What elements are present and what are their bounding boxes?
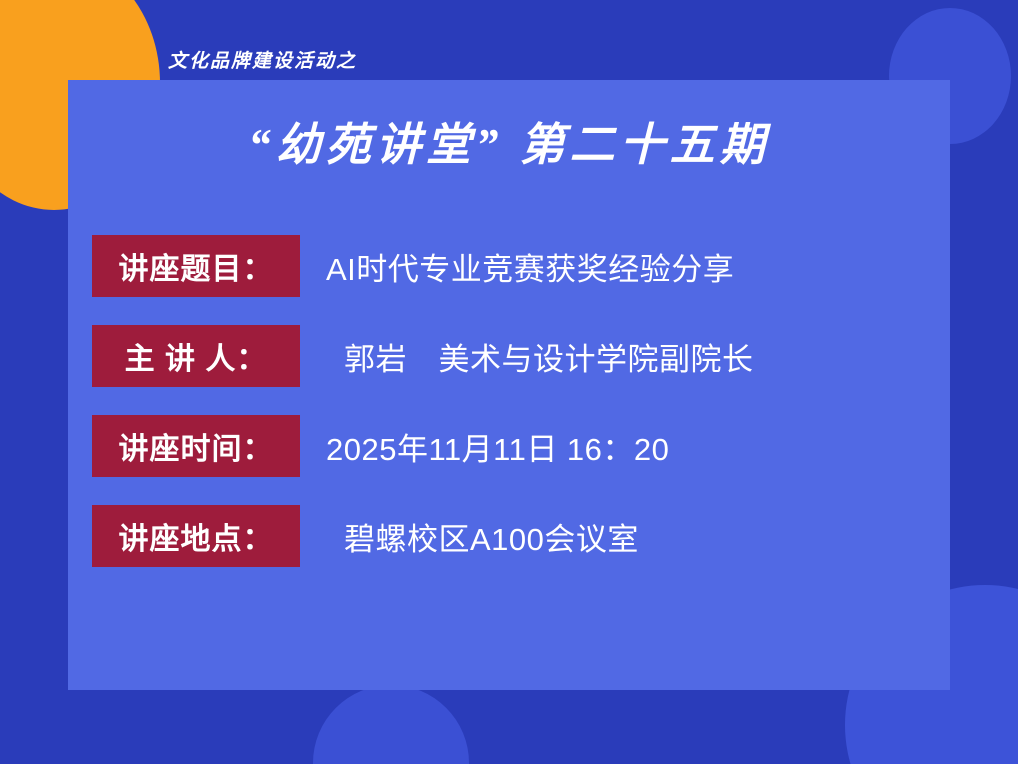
content-panel: “幼苑讲堂” 第二十五期 讲座题目： AI时代专业竞赛获奖经验分享 主 讲 人：…	[68, 80, 950, 690]
info-rows: 讲座题目： AI时代专业竞赛获奖经验分享 主 讲 人： 郭岩 美术与设计学院副院…	[92, 235, 932, 567]
info-row-time: 讲座时间： 2025年11月11日 16：20	[92, 415, 932, 477]
series-eyebrow-text: 文化品牌建设活动之	[168, 46, 357, 73]
lecture-poster: 文化品牌建设活动之 “幼苑讲堂” 第二十五期 讲座题目： AI时代专业竞赛获奖经…	[0, 0, 1018, 764]
blue-circle-bottom-center-decoration	[313, 685, 469, 764]
value-time: 2025年11月11日 16：20	[326, 424, 669, 469]
poster-headline: “幼苑讲堂” 第二十五期	[68, 108, 950, 173]
label-time: 讲座时间：	[92, 415, 300, 477]
info-row-topic: 讲座题目： AI时代专业竞赛获奖经验分享	[92, 235, 932, 297]
value-topic: AI时代专业竞赛获奖经验分享	[326, 244, 734, 289]
info-row-location: 讲座地点： 碧螺校区A100会议室	[92, 505, 932, 567]
value-location: 碧螺校区A100会议室	[344, 514, 639, 559]
label-topic: 讲座题目：	[92, 235, 300, 297]
info-row-speaker: 主 讲 人： 郭岩 美术与设计学院副院长	[92, 325, 932, 387]
label-speaker: 主 讲 人：	[92, 325, 300, 387]
label-location: 讲座地点：	[92, 505, 300, 567]
value-speaker: 郭岩 美术与设计学院副院长	[344, 334, 754, 379]
